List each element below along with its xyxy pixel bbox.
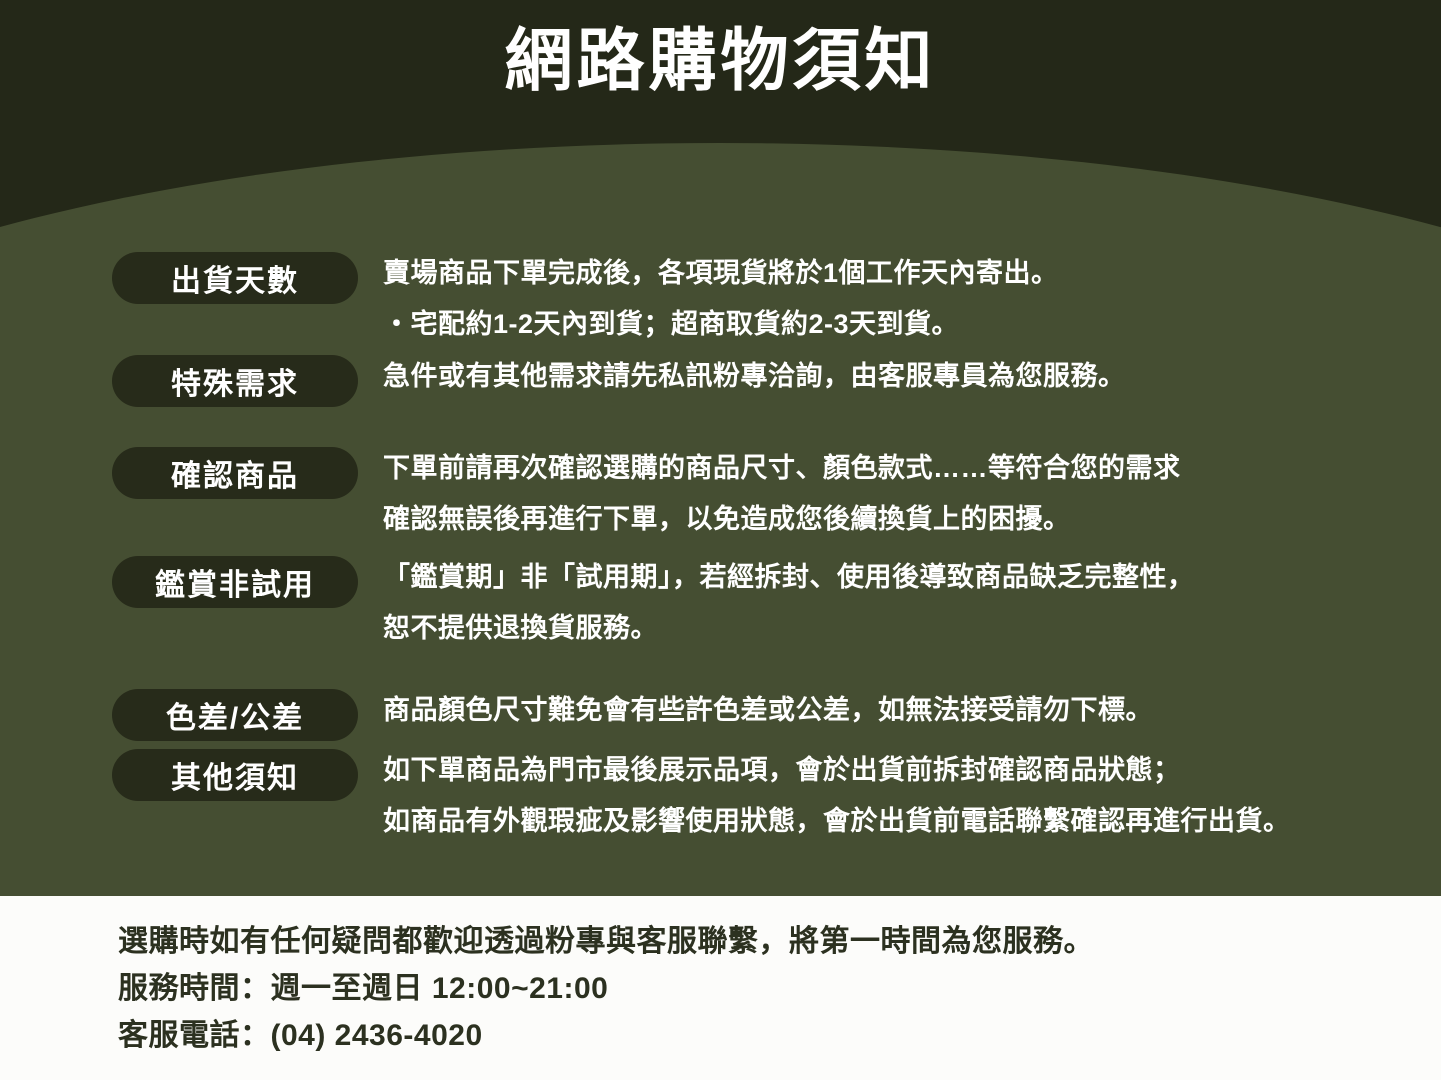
notice-line: 如下單商品為門市最後展示品項，會於出貨前拆封確認商品狀態； [383,745,1423,796]
notice-body-special-request: 急件或有其他需求請先私訊粉專洽詢，由客服專員為您服務。 [383,351,1423,402]
notice-label-other: 其他須知 [112,749,358,801]
notice-line: 如商品有外觀瑕疵及影響使用狀態，會於出貨前電話聯繫確認再進行出貨。 [383,796,1423,847]
notice-line: 商品顏色尺寸難免會有些許色差或公差，如無法接受請勿下標。 [383,685,1423,736]
notice-label-color-tolerance: 色差/公差 [112,689,358,741]
footer-line-contact: 選購時如有任何疑問都歡迎透過粉專與客服聯繫，將第一時間為您服務。 [118,918,1418,965]
footer-contact-block: 選購時如有任何疑問都歡迎透過粉專與客服聯繫，將第一時間為您服務。 服務時間：週一… [118,918,1418,1059]
notice-line: 確認無誤後再進行下單，以免造成您後續換貨上的困擾。 [383,494,1423,545]
notice-body-other: 如下單商品為門市最後展示品項，會於出貨前拆封確認商品狀態； 如商品有外觀瑕疵及影… [383,745,1423,847]
notice-label-shipping: 出貨天數 [112,252,358,304]
notice-label-special-request: 特殊需求 [112,355,358,407]
notice-line: ・宅配約1-2天內到貨；超商取貨約2-3天到貨。 [383,299,1423,350]
notice-line: 恕不提供退換貨服務。 [383,603,1423,654]
notice-body-inspection-period: 「鑑賞期」非「試用期」，若經拆封、使用後導致商品缺乏完整性， 恕不提供退換貨服務… [383,552,1423,654]
notice-line: 急件或有其他需求請先私訊粉專洽詢，由客服專員為您服務。 [383,351,1423,402]
footer-line-phone: 客服電話：(04) 2436-4020 [118,1012,1418,1059]
notice-label-confirm-product: 確認商品 [112,447,358,499]
notice-body-color-tolerance: 商品顏色尺寸難免會有些許色差或公差，如無法接受請勿下標。 [383,685,1423,736]
footer-line-service-hours: 服務時間：週一至週日 12:00~21:00 [118,965,1418,1012]
notice-line: 下單前請再次確認選購的商品尺寸、顏色款式……等符合您的需求 [383,443,1423,494]
notice-body-shipping: 賣場商品下單完成後，各項現貨將於1個工作天內寄出。 ・宅配約1-2天內到貨；超商… [383,248,1423,350]
shopping-notice-poster: 網路購物須知 出貨天數 賣場商品下單完成後，各項現貨將於1個工作天內寄出。 ・宅… [0,0,1441,1080]
notice-line: 賣場商品下單完成後，各項現貨將於1個工作天內寄出。 [383,248,1423,299]
notice-sections: 出貨天數 賣場商品下單完成後，各項現貨將於1個工作天內寄出。 ・宅配約1-2天內… [0,0,1441,896]
notice-label-inspection-period: 鑑賞非試用 [112,556,358,608]
notice-body-confirm-product: 下單前請再次確認選購的商品尺寸、顏色款式……等符合您的需求 確認無誤後再進行下單… [383,443,1423,545]
notice-line: 「鑑賞期」非「試用期」，若經拆封、使用後導致商品缺乏完整性， [383,552,1423,603]
